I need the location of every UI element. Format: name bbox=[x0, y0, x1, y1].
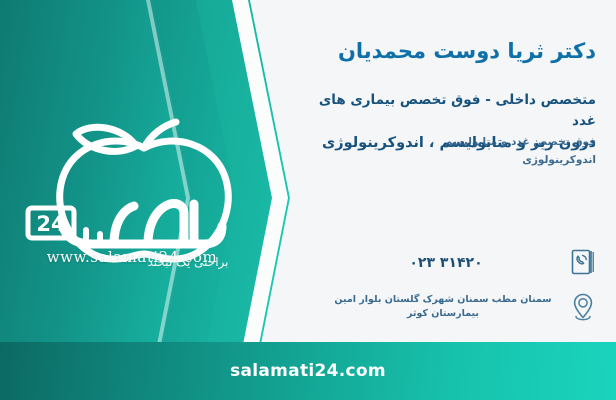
specialty-sub-block: فوق تخصص غدد و متابولیسم اندوکرینولوژی bbox=[306, 134, 596, 170]
svg-text:24: 24 bbox=[36, 212, 65, 236]
phone-number: ۳۱۴۲۰ ۰۲۳ bbox=[306, 255, 560, 271]
address-row[interactable]: سمنان مطب سمنان شهرک گلستان بلوار امین ب… bbox=[306, 292, 596, 322]
footer-website[interactable]: salamati24.com bbox=[0, 342, 616, 400]
logo-url: www.salamati24.com bbox=[32, 248, 232, 266]
phone-row[interactable]: ۳۱۴۲۰ ۰۲۳ bbox=[306, 248, 596, 278]
address-text: سمنان مطب سمنان شهرک گلستان بلوار امین ب… bbox=[306, 293, 560, 322]
doctor-name: دکتر ثریا دوست محمدیان bbox=[306, 38, 596, 65]
location-pin-icon bbox=[570, 292, 596, 322]
card-content: دکتر ثریا دوست محمدیان متخصص داخلی - فوق… bbox=[286, 0, 616, 400]
business-card: 24 براحتی یک لبخند www.salamati24.com دک… bbox=[0, 0, 616, 400]
phone-book-icon bbox=[570, 248, 596, 278]
sub-line-1: فوق تخصص غدد و متابولیسم bbox=[306, 134, 596, 152]
specialty-line-1: متخصص داخلی - فوق تخصص بیماری های غدد bbox=[306, 90, 596, 132]
sub-line-2: اندوکرینولوژی bbox=[306, 152, 596, 170]
